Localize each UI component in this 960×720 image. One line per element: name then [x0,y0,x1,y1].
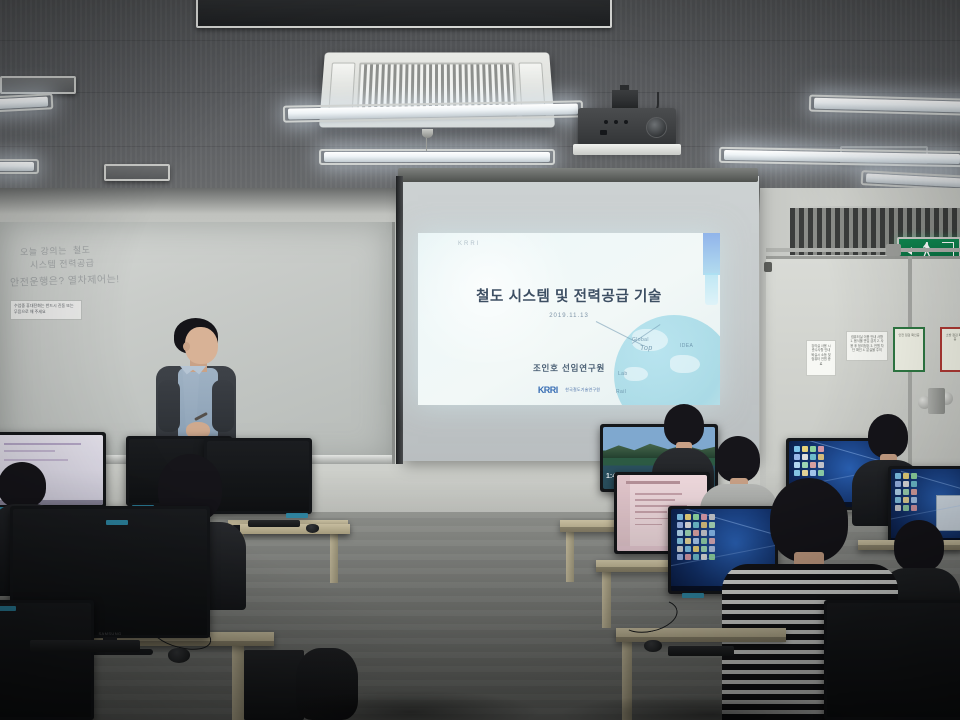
ceiling-vent-left-2 [104,164,170,181]
keyboard-right[interactable] [668,646,734,656]
ceiling-vent-left [0,76,76,94]
projector [578,108,676,148]
ceiling-light-4 [324,152,550,162]
slide-logo: KRRI 한국철도기술연구원 [418,381,720,399]
projector-mount [612,90,638,110]
map-label-global: Global [632,337,649,343]
whiteboard-text-line-2: 시스템 전력공급 [30,258,95,271]
safety-certificate-green: 안전 점검 확인증 [893,327,925,372]
mouse-left[interactable] [168,648,190,663]
screen-housing [398,168,758,182]
wall-notice-1: 강의실 사용 시 준수사항 안내 퇴실시 소등 및 컴퓨터 전원 종료 [806,340,836,376]
wall-notice-2: 컴퓨터실 이용 안내 사항 1. 음식물 반입 금지 2. 사용 후 정리정돈 … [846,331,888,361]
screen-left-edge [396,176,403,464]
projected-slide: KRRI Global Top IDEA Lab Rail 철도 시스템 및 전… [418,233,720,405]
mouse-right[interactable] [644,640,662,652]
safety-certificate-red: 소방 점검 확인증 [940,327,960,372]
wall-conduit [766,248,960,252]
whiteboard-notice: 수업중 휴대전화는 반드시 진동 또는 무음으로 해 주세요 [10,300,82,320]
slide-faint-header: KRRI [458,241,480,247]
monitor-brand-label: SAMSUNG [98,631,121,636]
map-label-idea: IDEA [680,343,693,349]
projector-lens [646,117,667,138]
map-label-top: Top [640,345,653,352]
ceiling-light-6 [0,162,34,171]
krri-logo-name: 한국철도기술연구원 [565,387,600,393]
screen-dark-far-left [0,603,91,717]
keyboard-left-back[interactable] [248,520,300,527]
slide-title: 철도 시스템 및 전력공급 기술 [418,285,720,306]
wall-pipe-fixture [928,388,945,414]
slide-date: 2019.11.13 [418,313,720,319]
mouse-left-back[interactable] [306,524,319,533]
door-hinge [764,262,772,272]
keyboard-left[interactable] [30,640,140,652]
ceiling-vent-top [196,0,612,28]
classroom-photo: 오늘 강의는 철도 시스템 전력공급 안전운행은? 열차제어는! 수업중 휴대전… [0,0,960,720]
monitor-foreground-far-left[interactable] [0,600,94,720]
krri-logo-mark: KRRI [538,385,558,395]
slide-presenter-name: 조인호 선임연구원 [418,362,720,374]
sprinkler-head [422,129,433,138]
conduit-junction-box [886,244,901,256]
slide-accent-bar [703,233,720,275]
